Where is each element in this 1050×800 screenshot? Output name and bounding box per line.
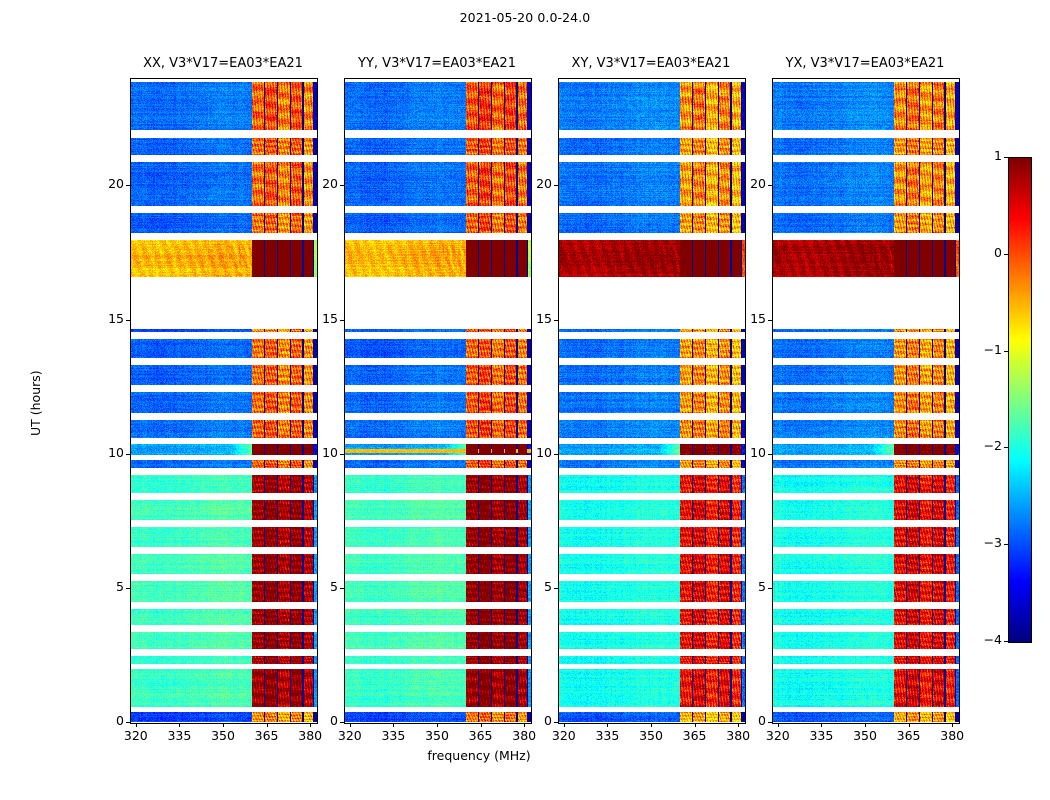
panel-title-xx: XX, V3*V17=EA03*EA21 xyxy=(130,56,316,71)
x-tick-label-yx-335: 335 xyxy=(799,728,843,743)
y-tickmark xyxy=(126,185,130,186)
x-tickmark xyxy=(865,723,866,727)
x-tickmark xyxy=(821,723,822,727)
colorbar-tickmark xyxy=(1004,641,1008,642)
spectrum-image-yx xyxy=(773,79,959,723)
x-tickmark xyxy=(695,723,696,727)
colorbar-tick-1: 1 xyxy=(962,148,1002,163)
y-tickmark xyxy=(340,588,344,589)
colorbar-tickmark xyxy=(1004,157,1008,158)
x-tick-label-yx-365: 365 xyxy=(887,728,931,743)
y-tickmark xyxy=(768,588,772,589)
x-tick-label-yy-380: 380 xyxy=(502,728,546,743)
colorbar-tickmark xyxy=(1004,351,1008,352)
x-axis-label: frequency (MHz) xyxy=(0,748,958,763)
x-tickmark xyxy=(481,723,482,727)
spectrum-image-xy xyxy=(559,79,745,723)
y-tickmark xyxy=(768,722,772,723)
y-tick-label-yx-5: 5 xyxy=(732,579,766,594)
x-tickmark xyxy=(437,723,438,727)
y-tick-label-yy-0: 0 xyxy=(304,713,338,728)
y-tick-label-xy-15: 15 xyxy=(518,311,552,326)
colorbar xyxy=(1008,157,1032,643)
y-tickmark xyxy=(340,185,344,186)
y-tick-label-xy-20: 20 xyxy=(518,176,552,191)
y-tick-label-15: 15 xyxy=(86,311,124,326)
y-tick-label-yx-15: 15 xyxy=(732,311,766,326)
y-tickmark xyxy=(126,320,130,321)
y-tickmark xyxy=(126,588,130,589)
y-tick-label-5: 5 xyxy=(86,579,124,594)
figure-suptitle: 2021-05-20 0.0-24.0 xyxy=(0,10,1050,25)
x-tick-label-yx-320: 320 xyxy=(756,728,800,743)
colorbar-gradient xyxy=(1009,158,1031,642)
y-tickmark xyxy=(340,722,344,723)
x-tick-label-xx-320: 320 xyxy=(114,728,158,743)
x-tick-label-yx-350: 350 xyxy=(843,728,887,743)
spectrum-panel-yy[interactable] xyxy=(344,78,532,724)
y-tick-label-yy-5: 5 xyxy=(304,579,338,594)
x-tick-label-yy-365: 365 xyxy=(459,728,503,743)
y-tick-label-yx-10: 10 xyxy=(732,445,766,460)
x-tickmark xyxy=(564,723,565,727)
y-tick-label-yx-20: 20 xyxy=(732,176,766,191)
y-tick-label-yy-10: 10 xyxy=(304,445,338,460)
x-tickmark xyxy=(267,723,268,727)
x-tick-label-xx-365: 365 xyxy=(245,728,289,743)
x-tickmark xyxy=(136,723,137,727)
colorbar-tickmark xyxy=(1004,254,1008,255)
colorbar-tick-0: 0 xyxy=(962,245,1002,260)
y-tickmark xyxy=(768,320,772,321)
x-tickmark xyxy=(223,723,224,727)
spectrum-panel-xx[interactable] xyxy=(130,78,318,724)
y-tick-label-yx-0: 0 xyxy=(732,713,766,728)
y-tick-label-xy-5: 5 xyxy=(518,579,552,594)
y-axis-label: UT (hours) xyxy=(28,370,43,436)
spectrum-image-xx xyxy=(131,79,317,723)
x-tick-label-xx-380: 380 xyxy=(288,728,332,743)
y-tickmark xyxy=(554,722,558,723)
x-tick-label-xy-350: 350 xyxy=(629,728,673,743)
y-tickmark xyxy=(768,185,772,186)
y-tick-label-20: 20 xyxy=(86,176,124,191)
spectrum-panel-yx[interactable] xyxy=(772,78,960,724)
spectrum-image-yy xyxy=(345,79,531,723)
x-tickmark xyxy=(179,723,180,727)
colorbar-tick-neg2: −2 xyxy=(962,438,1002,453)
y-tick-label-xy-10: 10 xyxy=(518,445,552,460)
y-tickmark xyxy=(340,454,344,455)
x-tick-label-xx-335: 335 xyxy=(157,728,201,743)
y-tick-label-yy-15: 15 xyxy=(304,311,338,326)
spectrum-panel-xy[interactable] xyxy=(558,78,746,724)
y-tick-label-10: 10 xyxy=(86,445,124,460)
x-tickmark xyxy=(909,723,910,727)
x-tickmark xyxy=(350,723,351,727)
y-tickmark xyxy=(554,454,558,455)
y-tickmark xyxy=(126,454,130,455)
x-tick-label-xx-350: 350 xyxy=(201,728,245,743)
colorbar-tickmark xyxy=(1004,447,1008,448)
x-tickmark xyxy=(607,723,608,727)
y-tickmark xyxy=(340,320,344,321)
y-tickmark xyxy=(768,454,772,455)
panel-title-yx: YX, V3*V17=EA03*EA21 xyxy=(772,56,958,71)
y-tickmark xyxy=(554,588,558,589)
x-tick-label-yy-335: 335 xyxy=(371,728,415,743)
y-tick-label-xy-0: 0 xyxy=(518,713,552,728)
x-tick-label-yx-380: 380 xyxy=(930,728,974,743)
x-tick-label-xy-365: 365 xyxy=(673,728,717,743)
panel-title-yy: YY, V3*V17=EA03*EA21 xyxy=(344,56,530,71)
y-tick-label-0: 0 xyxy=(86,713,124,728)
colorbar-tick-neg3: −3 xyxy=(962,535,1002,550)
figure-canvas-area: 2021-05-20 0.0-24.0 frequency (MHz) UT (… xyxy=(0,0,1050,800)
y-tick-label-yy-20: 20 xyxy=(304,176,338,191)
y-tickmark xyxy=(554,185,558,186)
x-tick-label-xy-380: 380 xyxy=(716,728,760,743)
y-tickmark xyxy=(126,722,130,723)
x-tick-label-yy-320: 320 xyxy=(328,728,372,743)
panel-title-xy: XY, V3*V17=EA03*EA21 xyxy=(558,56,744,71)
y-tickmark xyxy=(554,320,558,321)
colorbar-tick-neg1: −1 xyxy=(962,342,1002,357)
x-tick-label-xy-335: 335 xyxy=(585,728,629,743)
x-tickmark xyxy=(952,723,953,727)
colorbar-tickmark xyxy=(1004,544,1008,545)
x-tick-label-yy-350: 350 xyxy=(415,728,459,743)
x-tickmark xyxy=(778,723,779,727)
colorbar-tick-neg4: −4 xyxy=(962,632,1002,647)
x-tickmark xyxy=(393,723,394,727)
x-tickmark xyxy=(651,723,652,727)
x-tick-label-xy-320: 320 xyxy=(542,728,586,743)
